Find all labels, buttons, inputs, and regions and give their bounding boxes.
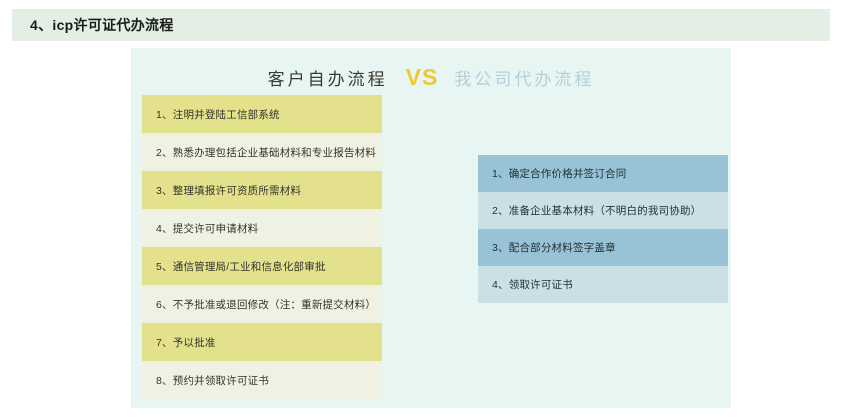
- page-title: 4、icp许可证代办流程: [30, 18, 174, 32]
- comparison-infographic-panel: 客户自办流程 VS 我公司代办流程 VS 1、注明并登陆工信部系统 2、熟悉办理…: [131, 48, 731, 408]
- header-vs-label: VS: [406, 66, 439, 89]
- list-item: 5、通信管理局/工业和信息化部审批: [142, 247, 382, 285]
- left-column-title: 客户自办流程: [268, 65, 388, 90]
- right-column-title: 我公司代办流程: [454, 65, 594, 90]
- customer-self-process-list: 1、注明并登陆工信部系统 2、熟悉办理包括企业基础材料和专业报告材料 3、整理填…: [142, 95, 382, 399]
- list-item: 4、提交许可申请材料: [142, 209, 382, 247]
- section-header-bar: 4、icp许可证代办流程: [12, 9, 830, 41]
- list-item: 6、不予批准或退回修改（注：重新提交材料）: [142, 285, 382, 323]
- list-item: 4、领取许可证书: [478, 266, 728, 303]
- list-item: 3、整理填报许可资质所需材料: [142, 171, 382, 209]
- list-item: 2、准备企业基本材料（不明白的我司协助）: [478, 192, 728, 229]
- list-item: 7、予以批准: [142, 323, 382, 361]
- list-item: 1、确定合作价格并签订合同: [478, 155, 728, 192]
- list-item: 3、配合部分材料签字盖章: [478, 229, 728, 266]
- comparison-header: 客户自办流程 VS 我公司代办流程: [131, 60, 731, 94]
- agency-process-list: 1、确定合作价格并签订合同 2、准备企业基本材料（不明白的我司协助） 3、配合部…: [478, 155, 728, 303]
- list-item: 8、预约并领取许可证书: [142, 361, 382, 399]
- list-item: 2、熟悉办理包括企业基础材料和专业报告材料: [142, 133, 382, 171]
- list-item: 1、注明并登陆工信部系统: [142, 95, 382, 133]
